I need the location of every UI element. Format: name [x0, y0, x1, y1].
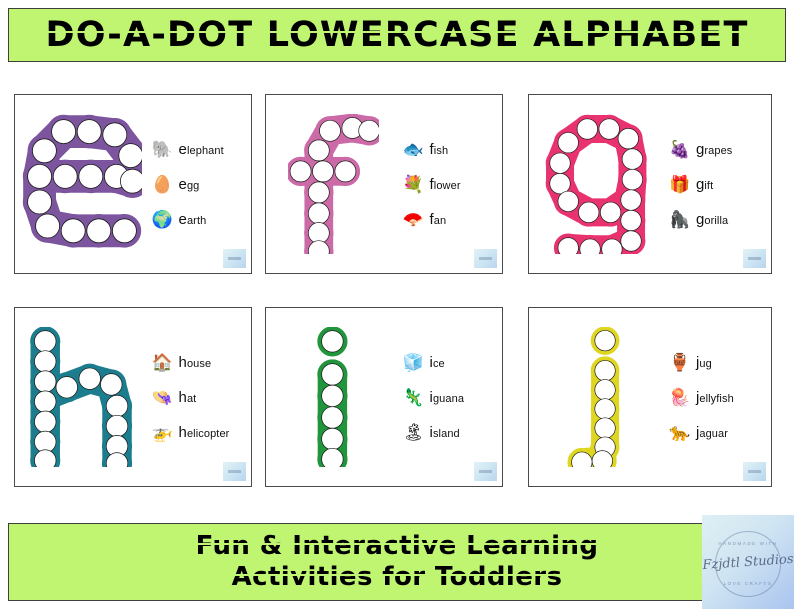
word-rest: ish: [434, 145, 448, 157]
word-label: island: [430, 424, 460, 441]
brand-watermark: HANDMADE WITH Fzjdtl Studios LOVE CRAFTS: [702, 515, 794, 609]
card-watermark: [223, 249, 246, 268]
page-title: DO-A-DOT LOWERCASE ALPHABET: [45, 15, 748, 55]
word-rest: at: [187, 393, 196, 405]
word-item: 🧊ice: [401, 350, 496, 374]
letter-card-j[interactable]: 🏺jug🪼jellyfish🐆jaguar: [528, 307, 772, 487]
word-lead-letter: h: [179, 424, 187, 441]
word-label: egg: [179, 176, 200, 193]
word-label: elephant: [179, 141, 224, 158]
card-inner: 🏺jug🪼jellyfish🐆jaguar: [529, 308, 771, 486]
word-label: hat: [179, 389, 197, 406]
card-watermark: [743, 249, 766, 268]
footer-line-1: Fun & Interactive Learning: [196, 531, 599, 561]
ice-icon: 🧊: [401, 350, 427, 374]
word-list-e: 🐘elephant🥚egg🌍earth: [150, 95, 251, 273]
card-watermark: [743, 462, 766, 481]
word-item: 🪼jellyfish: [667, 385, 765, 409]
word-rest: ce: [433, 358, 445, 370]
letter-card-i[interactable]: 🧊ice🦎iguana🏝island: [265, 307, 503, 487]
letter-glyph-e: [22, 114, 142, 254]
word-label: house: [179, 354, 212, 371]
dot-letter-g: [529, 95, 667, 273]
island-icon: 🏝: [401, 420, 427, 444]
house-icon: 🏠: [150, 350, 176, 374]
watermark-arc-bottom: LOVE CRAFTS: [702, 581, 794, 586]
letter-glyph-h: [28, 327, 136, 467]
dot-letter-e: [15, 95, 150, 273]
jellyfish-icon: 🪼: [667, 385, 693, 409]
word-item: 🏠house: [150, 350, 245, 374]
word-lead-letter: h: [179, 354, 187, 371]
fan-icon: 🪭: [401, 207, 427, 231]
word-item: 🦎iguana: [401, 385, 496, 409]
word-rest: orilla: [704, 215, 728, 227]
letter-card-g[interactable]: 🍇grapes🎁gift🦍gorilla: [528, 94, 772, 274]
card-watermark: [474, 462, 497, 481]
word-label: jellyfish: [696, 389, 734, 406]
word-label: gift: [696, 176, 713, 193]
header-banner: DO-A-DOT LOWERCASE ALPHABET: [8, 8, 786, 62]
page-title-wrap: DO-A-DOT LOWERCASE ALPHABET: [45, 18, 748, 53]
dot-letter-i: [266, 308, 401, 486]
letter-card-e[interactable]: 🐘elephant🥚egg🌍earth: [14, 94, 252, 274]
word-rest: lower: [434, 180, 461, 192]
jaguar-icon: 🐆: [667, 420, 693, 444]
word-label: jaguar: [696, 424, 728, 441]
word-label: flower: [430, 176, 461, 193]
word-rest: an: [434, 215, 446, 227]
word-item: 🏺jug: [667, 350, 765, 374]
letter-glyph-f: [288, 114, 379, 254]
card-inner: 🧊ice🦎iguana🏝island: [266, 308, 502, 486]
word-item: 🐆jaguar: [667, 420, 765, 444]
word-item: 🌍earth: [150, 207, 245, 231]
word-rest: gg: [187, 180, 199, 192]
gorilla-icon: 🦍: [667, 207, 693, 231]
egg-icon: 🥚: [150, 172, 176, 196]
card-watermark: [474, 249, 497, 268]
letter-glyph-j: [560, 327, 635, 467]
word-label: gorilla: [696, 211, 728, 228]
word-rest: arth: [187, 215, 206, 227]
word-rest: sland: [433, 428, 460, 440]
word-lead-letter: e: [179, 211, 187, 228]
word-rest: aguar: [699, 428, 728, 440]
word-list-j: 🏺jug🪼jellyfish🐆jaguar: [667, 308, 771, 486]
card-inner: 🍇grapes🎁gift🦍gorilla: [529, 95, 771, 273]
word-lead-letter: h: [179, 389, 187, 406]
word-item: 🍇grapes: [667, 137, 765, 161]
hat-icon: 👒: [150, 385, 176, 409]
word-rest: ug: [699, 358, 711, 370]
watermark-arc-top: HANDMADE WITH: [702, 541, 794, 546]
word-label: jug: [696, 354, 712, 371]
card-inner: 🐘elephant🥚egg🌍earth: [15, 95, 251, 273]
word-label: helicopter: [179, 424, 230, 441]
letter-card-f[interactable]: 🐟fish💐flower🪭fan: [265, 94, 503, 274]
word-label: ice: [430, 354, 445, 371]
word-item: 🐘elephant: [150, 137, 245, 161]
word-item: 🎁gift: [667, 172, 765, 196]
elephant-icon: 🐘: [150, 137, 176, 161]
word-label: fan: [430, 211, 447, 228]
word-item: 🦍gorilla: [667, 207, 765, 231]
letter-card-h[interactable]: 🏠house👒hat🚁helicopter: [14, 307, 252, 487]
word-lead-letter: e: [179, 176, 187, 193]
footer-line2-wrap: Activities for Toddlers: [232, 562, 563, 593]
word-lead-letter: e: [179, 141, 187, 158]
footer-banner: Fun & Interactive Learning Activities fo…: [8, 523, 786, 601]
alphabet-card-grid: 🐘elephant🥚egg🌍earth🐟fish💐flower🪭fan🍇grap…: [0, 72, 794, 512]
card-watermark: [223, 462, 246, 481]
word-list-h: 🏠house👒hat🚁helicopter: [150, 308, 251, 486]
word-list-f: 🐟fish💐flower🪭fan: [401, 95, 502, 273]
word-item: 🚁helicopter: [150, 420, 245, 444]
word-item: 🏝island: [401, 420, 496, 444]
jug-icon: 🏺: [667, 350, 693, 374]
word-rest: ouse: [187, 358, 211, 370]
word-label: grapes: [696, 141, 732, 158]
footer-line-2: Activities for Toddlers: [232, 562, 563, 592]
helicopter-icon: 🚁: [150, 420, 176, 444]
word-label: earth: [179, 211, 207, 228]
word-rest: ellyfish: [699, 393, 733, 405]
earth-icon: 🌍: [150, 207, 176, 231]
dot-letter-h: [15, 308, 150, 486]
letter-glyph-i: [308, 327, 358, 467]
flower-icon: 💐: [401, 172, 427, 196]
fish-icon: 🐟: [401, 137, 427, 161]
word-list-i: 🧊ice🦎iguana🏝island: [401, 308, 502, 486]
card-inner: 🏠house👒hat🚁helicopter: [15, 308, 251, 486]
word-rest: rapes: [704, 145, 732, 157]
word-item: 👒hat: [150, 385, 245, 409]
iguana-icon: 🦎: [401, 385, 427, 409]
dot-letter-j: [529, 308, 667, 486]
word-item: 🥚egg: [150, 172, 245, 196]
grapes-icon: 🍇: [667, 137, 693, 161]
word-list-g: 🍇grapes🎁gift🦍gorilla: [667, 95, 771, 273]
word-rest: lephant: [187, 145, 224, 157]
word-label: fish: [430, 141, 449, 158]
letter-glyph-g: [545, 114, 651, 254]
word-item: 🪭fan: [401, 207, 496, 231]
word-item: 🐟fish: [401, 137, 496, 161]
footer-line1-wrap: Fun & Interactive Learning: [196, 531, 599, 562]
word-rest: guana: [433, 393, 464, 405]
gift-icon: 🎁: [667, 172, 693, 196]
word-rest: elicopter: [187, 428, 229, 440]
word-item: 💐flower: [401, 172, 496, 196]
word-label: iguana: [430, 389, 465, 406]
card-inner: 🐟fish💐flower🪭fan: [266, 95, 502, 273]
word-rest: ift: [704, 180, 713, 192]
dot-letter-f: [266, 95, 401, 273]
